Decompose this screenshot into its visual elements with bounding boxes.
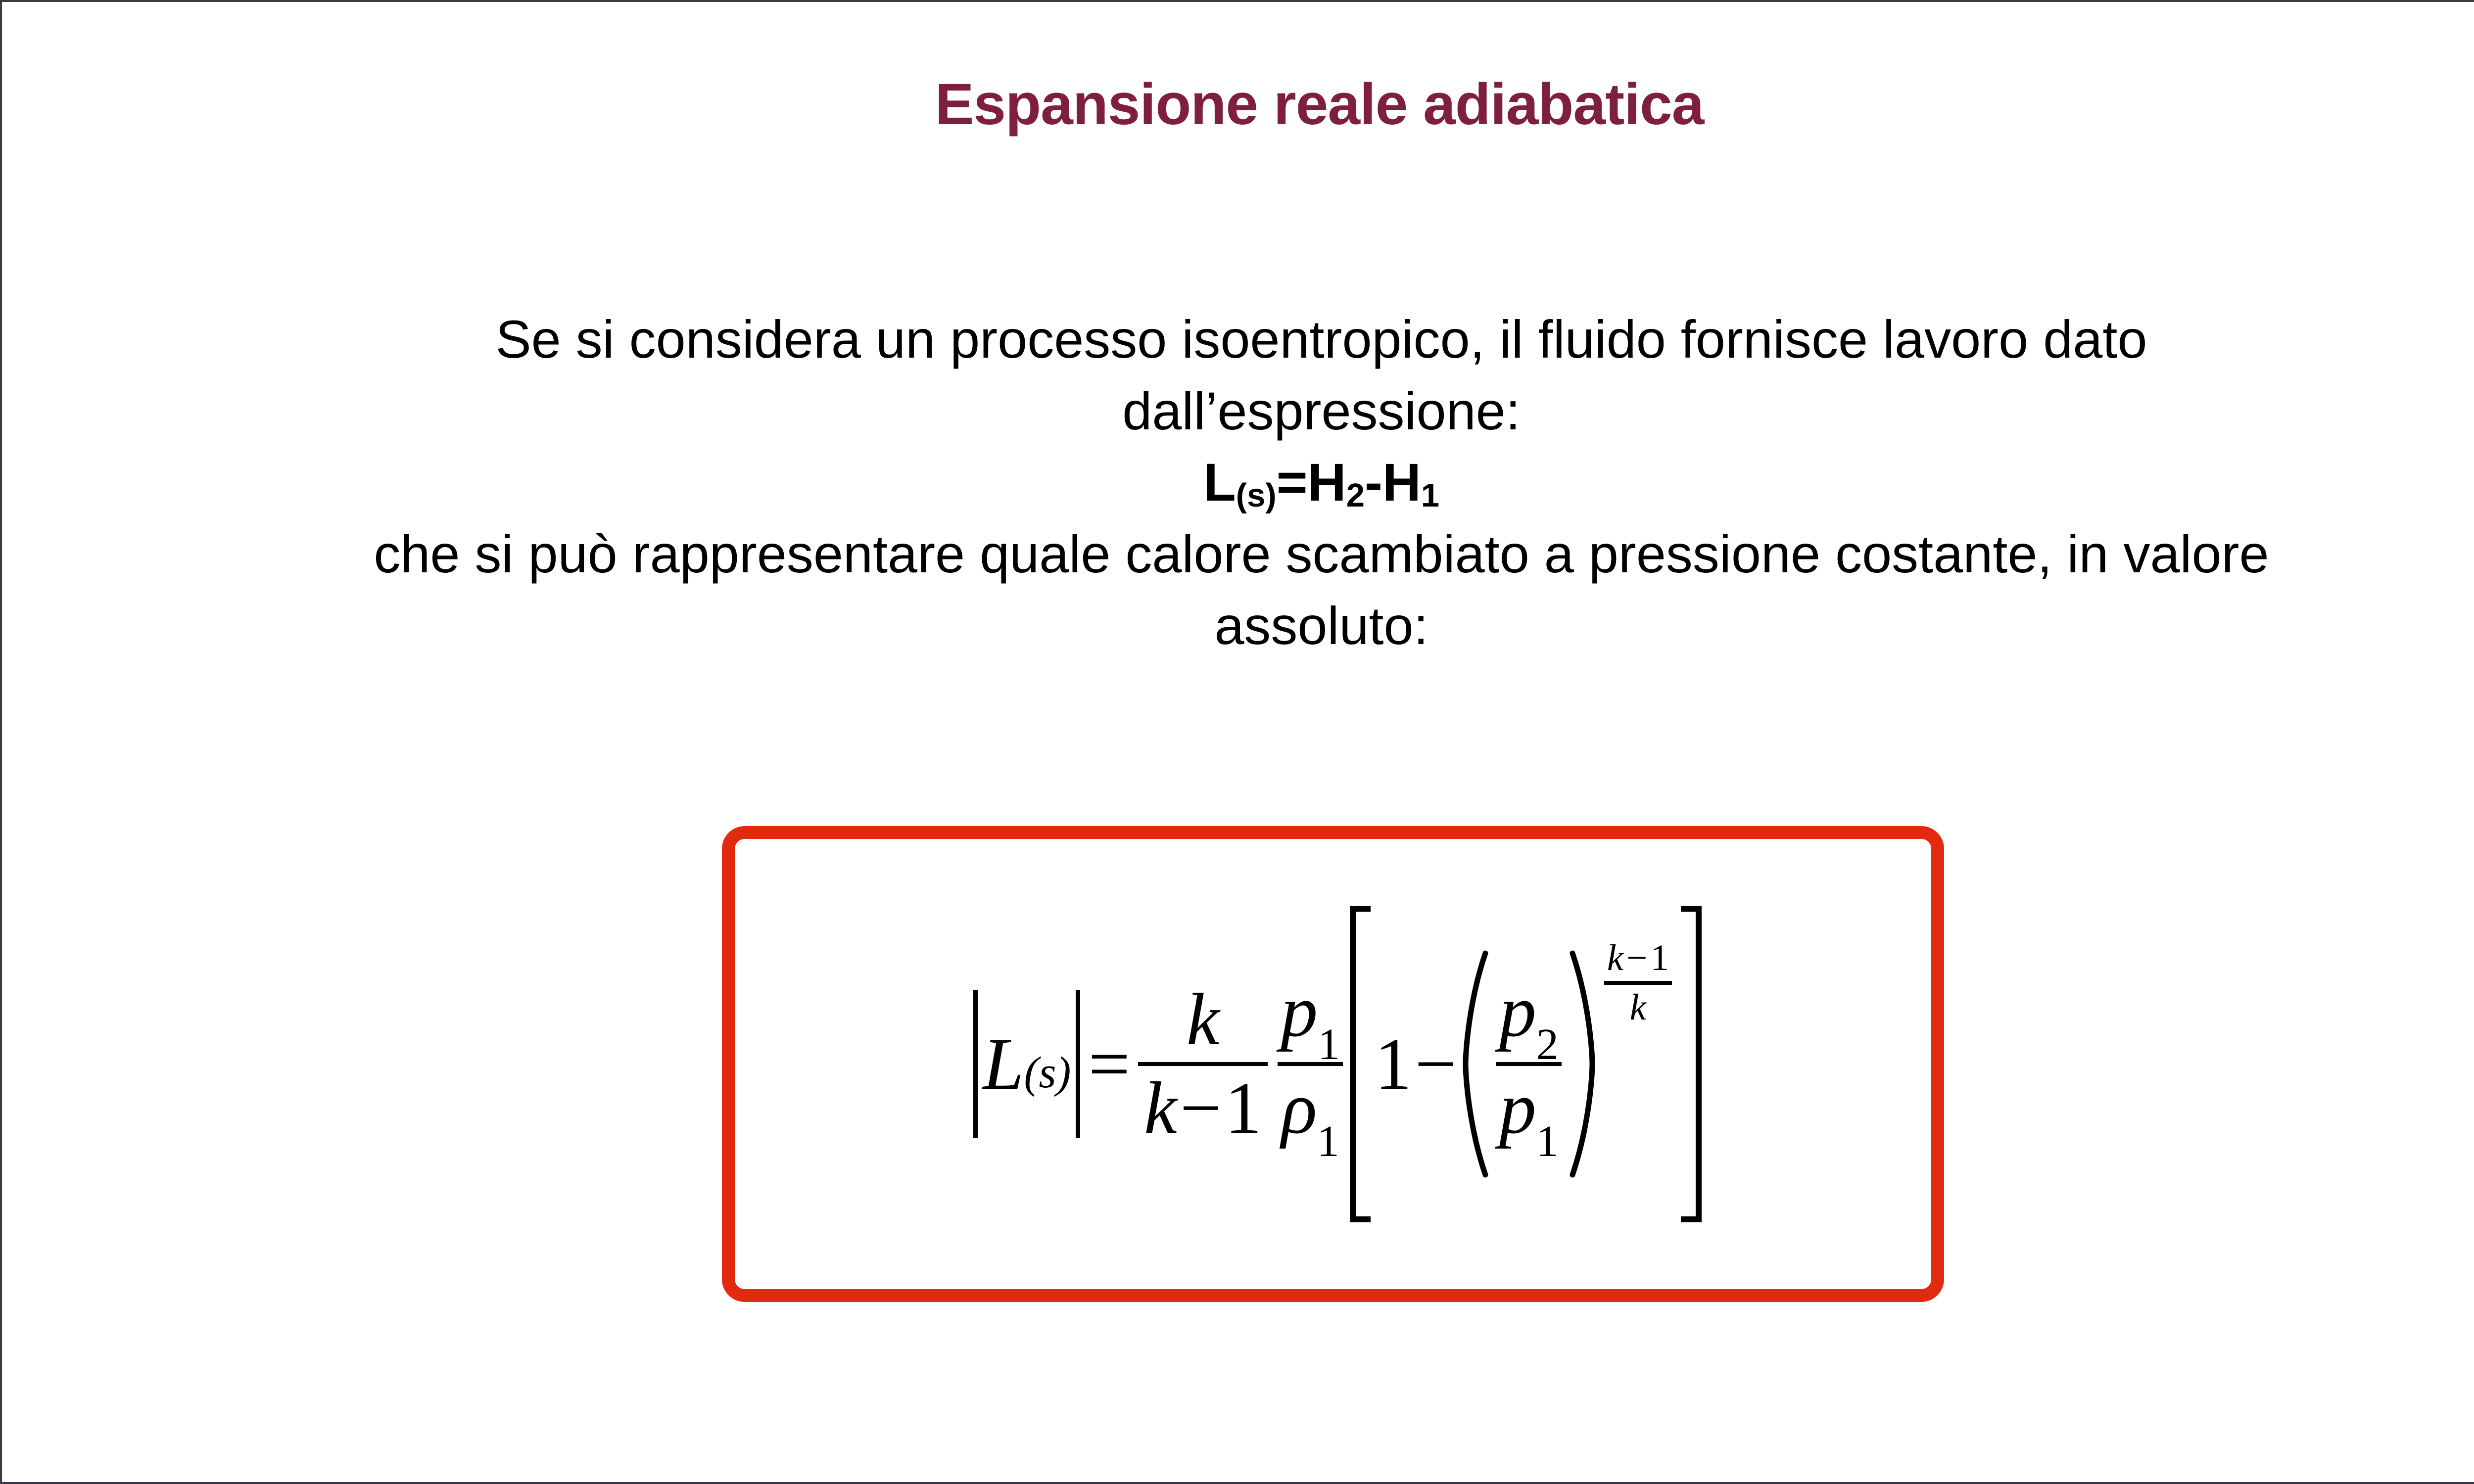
fraction-k-minus-1-over-k: k−1 k <box>1604 938 1672 1027</box>
bracketed-expression: 1 − p2 p1 <box>1348 906 1704 1222</box>
numerator-p: p <box>1499 970 1536 1052</box>
numerator-p-subscript: 2 <box>1536 1021 1559 1068</box>
numerator-p: p <box>1281 970 1318 1052</box>
paren-left-icon <box>1460 950 1491 1178</box>
fraction-denominator: k−1 <box>1138 1069 1268 1148</box>
inline-eq-term1-symbol: H <box>1308 452 1346 512</box>
fraction-p1-over-rho1: p1 ρ1 <box>1278 972 1343 1156</box>
exponent-numerator-minus: − <box>1623 937 1650 978</box>
denominator-k: k <box>1144 1067 1177 1149</box>
body-line-1: Se si considera un processo isoentropico… <box>61 304 2474 375</box>
body-text-block: Se si considera un processo isoentropico… <box>61 304 2474 662</box>
fraction-numerator: p1 <box>1278 972 1343 1059</box>
exponent: k−1 k <box>1599 938 1677 1027</box>
inline-eq-equals: = <box>1277 452 1308 512</box>
formula-equals: = <box>1085 1027 1133 1101</box>
inline-eq-term2-subscript: 1 <box>1421 477 1439 514</box>
paren-right-icon <box>1567 950 1598 1178</box>
fraction-numerator: k−1 <box>1604 938 1672 978</box>
body-line-2: dall’espressione: <box>61 375 2474 447</box>
power-expression: p2 p1 <box>1460 906 1677 1222</box>
inline-equation: L(s)=H2-H1 <box>61 447 2474 518</box>
exponent-numerator-k: k <box>1607 937 1623 978</box>
formula-abs-subscript: (s) <box>1024 1051 1071 1095</box>
fraction-numerator: k <box>1181 980 1226 1059</box>
main-formula: L(s) = k k−1 p1 ρ1 <box>968 906 1704 1222</box>
formula-box-inner: L(s) = k k−1 p1 ρ1 <box>735 839 1931 1289</box>
numerator-p-subscript: 1 <box>1318 1021 1340 1068</box>
inline-eq-lhs-subscript: (s) <box>1236 477 1277 514</box>
fraction-denominator: ρ1 <box>1279 1069 1342 1156</box>
square-bracket-right-icon <box>1679 906 1702 1222</box>
denominator-rho-subscript: 1 <box>1317 1118 1339 1165</box>
square-bracket-left-icon <box>1350 906 1373 1222</box>
highlighted-formula-box: L(s) = k k−1 p1 ρ1 <box>722 826 1944 1302</box>
formula-abs-var: L <box>983 1027 1024 1101</box>
fraction-bar <box>1138 1062 1268 1066</box>
exponent-denominator-k: k <box>1627 988 1649 1027</box>
denominator-rho: ρ <box>1282 1067 1317 1149</box>
body-line-5: assoluto: <box>61 590 2474 662</box>
fraction-p2-over-p1: p2 p1 <box>1496 972 1562 1156</box>
exponent-holder: k−1 k <box>1598 906 1677 1253</box>
denominator-minus: − <box>1177 1067 1225 1149</box>
abs-bar-right <box>1076 990 1080 1138</box>
inline-eq-lhs-symbol: L <box>1203 452 1236 512</box>
page-title: Espansione reale adiabatica <box>2 71 2474 139</box>
inline-eq-term1-subscript: 2 <box>1346 477 1365 514</box>
abs-bar-left <box>973 990 978 1138</box>
fraction-denominator: p1 <box>1496 1069 1562 1156</box>
fraction-k-over-k-minus-1: k k−1 <box>1138 980 1268 1148</box>
denominator-one: 1 <box>1225 1067 1262 1149</box>
bracket-minus: − <box>1412 1027 1460 1101</box>
inline-eq-term2-symbol: H <box>1382 452 1421 512</box>
inline-eq-minus: - <box>1365 452 1382 512</box>
parenthesized-ratio: p2 p1 <box>1460 950 1598 1178</box>
slide: Espansione reale adiabatica Se si consid… <box>0 0 2474 1484</box>
fraction-bar <box>1604 981 1672 985</box>
denominator-p-subscript: 1 <box>1536 1118 1559 1165</box>
fraction-numerator: p2 <box>1496 972 1562 1059</box>
body-line-4: che si può rappresentare quale calore sc… <box>61 518 2474 590</box>
exponent-numerator-one: 1 <box>1650 937 1669 978</box>
bracket-one: 1 <box>1375 1027 1412 1101</box>
denominator-p: p <box>1499 1067 1536 1149</box>
